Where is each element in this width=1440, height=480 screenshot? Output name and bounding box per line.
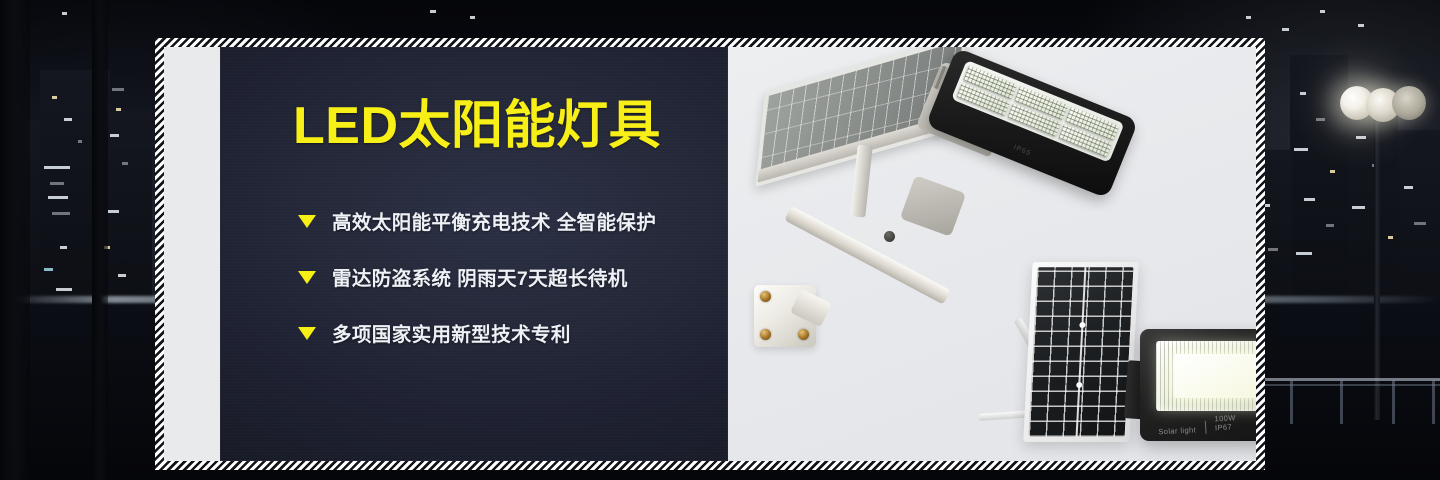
building-light — [112, 88, 124, 91]
feature-item: 雷达防盗系统 阴雨天7天超长待机 — [298, 263, 718, 290]
building-light — [52, 96, 57, 99]
page-title: LED太阳能灯具 — [293, 100, 661, 152]
building-light — [118, 274, 126, 277]
solar-panel-image — [1023, 262, 1139, 442]
building-light — [108, 210, 119, 213]
building-light — [44, 268, 53, 271]
feature-list: 高效太阳能平衡充电技术 全智能保护 雷达防盗系统 阴雨天7天超长待机 多项国家实… — [298, 207, 718, 375]
railing-post — [1340, 380, 1343, 424]
building-light — [1268, 248, 1278, 251]
frame-inner-panel: LED太阳能灯具 高效太阳能平衡充电技术 全智能保护 雷达防盗系统 阴雨天7天超… — [164, 47, 1256, 461]
solar-flood-light-image: Solar light 100W IP67 — [1140, 329, 1256, 441]
floodlight-spec: 100W IP67 — [1214, 413, 1236, 433]
building-light — [1246, 16, 1251, 19]
railing-post — [1290, 380, 1293, 424]
building-light — [1358, 24, 1364, 27]
triangle-down-icon — [298, 327, 316, 340]
hatched-frame-border: LED太阳能灯具 高效太阳能平衡充电技术 全智能保护 雷达防盗系统 阴雨天7天超… — [155, 38, 1265, 470]
foreground-pillar — [0, 0, 30, 480]
building-light — [1282, 28, 1289, 31]
building-light — [1320, 10, 1325, 13]
foreground-pillar — [92, 0, 108, 480]
building-light — [1304, 198, 1315, 201]
building-light — [122, 162, 128, 165]
lamp-globe — [1392, 86, 1426, 120]
promenade-railing — [1255, 384, 1440, 386]
promo-banner: LED太阳能灯具 高效太阳能平衡充电技术 全智能保护 雷达防盗系统 阴雨天7天超… — [0, 0, 1440, 480]
building-light — [470, 16, 475, 19]
railing-post — [1392, 380, 1395, 424]
building-light — [1352, 206, 1365, 209]
feature-item: 高效太阳能平衡充电技术 全智能保护 — [298, 207, 718, 234]
mount-bolt — [760, 291, 771, 302]
building-light — [50, 182, 64, 185]
panel-frame — [1023, 262, 1139, 442]
building-light — [1388, 236, 1393, 239]
railing-post — [1432, 380, 1435, 424]
label-divider — [1205, 421, 1207, 434]
feature-label: 雷达防盗系统 阴雨天7天超长待机 — [332, 262, 628, 291]
building-light — [52, 212, 70, 215]
headline-panel: LED太阳能灯具 高效太阳能平衡充电技术 全智能保护 雷达防盗系统 阴雨天7天超… — [220, 47, 728, 461]
promenade-railing — [1255, 378, 1440, 381]
feature-label: 多项国家实用新型技术专利 — [332, 318, 571, 347]
building-light — [1356, 136, 1366, 139]
building-light — [1316, 118, 1325, 121]
building-light — [64, 118, 72, 121]
triangle-down-icon — [298, 271, 316, 284]
building-light — [1404, 186, 1413, 189]
building-light — [78, 140, 82, 143]
building-light — [1296, 252, 1312, 255]
mount-bolt — [760, 329, 771, 340]
building-light — [48, 196, 68, 199]
street-lamp-pole — [1374, 120, 1380, 420]
building-light — [430, 10, 436, 13]
building-light — [60, 246, 67, 249]
building-light — [44, 166, 70, 169]
radar-sensor-icon — [884, 231, 895, 242]
floodlight-led-panel — [1156, 341, 1256, 411]
ip-rating-marking: IP65 — [1012, 144, 1032, 157]
building-light — [110, 134, 119, 137]
building-light — [62, 12, 67, 15]
building-light — [1414, 222, 1426, 225]
building-light — [1326, 224, 1334, 227]
adjustable-joint — [900, 175, 966, 237]
feature-item: 多项国家实用新型技术专利 — [298, 319, 718, 346]
brand-label: Solar light — [1158, 425, 1196, 436]
building-light — [56, 288, 72, 291]
product-showcase: IP65 — [728, 47, 1256, 461]
building-light — [1294, 148, 1308, 151]
floodlight-housing: Solar light 100W IP67 — [1140, 329, 1256, 441]
triangle-down-icon — [298, 215, 316, 228]
building-light — [1330, 170, 1335, 173]
mount-bolt — [798, 329, 809, 340]
led-lamp-head: IP65 — [925, 47, 1138, 198]
ip-rating-label: IP67 — [1215, 423, 1237, 433]
feature-label: 高效太阳能平衡充电技术 全智能保护 — [332, 206, 656, 235]
building-light — [1300, 92, 1306, 95]
building-light — [116, 108, 121, 111]
floodlight-markings: Solar light 100W IP67 — [1158, 411, 1256, 436]
